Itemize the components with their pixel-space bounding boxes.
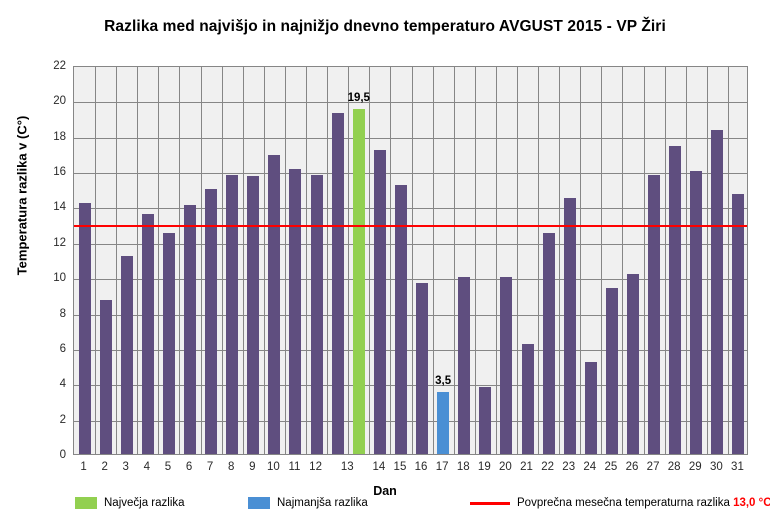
bar-value-label: 19,5 [348,92,370,104]
x-axis-tick-label: 22 [541,461,554,473]
x-axis-tick-label: 28 [668,461,681,473]
x-axis-tick-label: 31 [731,461,744,473]
x-axis-tick-label: 30 [710,461,723,473]
chart-title: Razlika med najvišjo in najnižjo dnevno … [0,18,770,36]
x-axis-ticks: 1234567891011121314151617181920212223242… [73,461,748,479]
y-axis-tick-label: 2 [6,414,66,426]
x-axis-tick-label: 20 [499,461,512,473]
y-axis-tick-label: 14 [6,201,66,213]
x-axis-tick-label: 12 [309,461,322,473]
x-axis-tick-label: 25 [604,461,617,473]
x-axis-tick-label: 4 [144,461,150,473]
y-axis-tick-label: 20 [6,95,66,107]
legend-label-average-value: 13,0 °C [733,497,770,509]
y-axis-tick-label: 18 [6,131,66,143]
bar-value-label: 3,5 [435,375,451,387]
legend-label-max: Največja razlika [104,497,185,509]
x-axis-tick-label: 24 [583,461,596,473]
chart-legend: Največja razlika Najmanjša razlika Povpr… [0,494,770,518]
y-axis-ticks: 0246810121416182022 [0,66,66,455]
x-axis-tick-label: 26 [626,461,639,473]
legend-label-average: Povprečna mesečna temperaturna razlika 1… [517,497,770,509]
x-axis-tick-label: 19 [478,461,491,473]
legend-item-max: Največja razlika [75,497,185,509]
bar-labels-layer: 19,53,5 [74,67,747,454]
y-axis-tick-label: 22 [6,60,66,72]
x-axis-tick-label: 9 [249,461,255,473]
x-axis-tick-label: 18 [457,461,470,473]
chart-container: Razlika med najvišjo in najnižjo dnevno … [0,0,770,518]
x-axis-tick-label: 21 [520,461,533,473]
legend-label-min: Najmanjša razlika [277,497,368,509]
x-axis-tick-label: 15 [394,461,407,473]
legend-item-average: Povprečna mesečna temperaturna razlika 1… [470,497,770,509]
legend-line-average-icon [470,502,510,505]
y-axis-tick-label: 0 [6,449,66,461]
x-axis-tick-label: 14 [372,461,385,473]
legend-swatch-max-icon [75,497,97,509]
x-axis-tick-label: 3 [123,461,129,473]
legend-label-average-text: Povprečna mesečna temperaturna razlika [517,497,730,509]
x-axis-tick-label: 10 [267,461,280,473]
x-axis-tick-label: 27 [647,461,660,473]
legend-item-min: Najmanjša razlika [248,497,368,509]
x-axis-tick-label: 23 [562,461,575,473]
plot-area: 19,53,5 [73,66,748,455]
x-axis-tick-label: 16 [415,461,428,473]
x-axis-tick-label: 8 [228,461,234,473]
y-axis-tick-label: 6 [6,343,66,355]
y-axis-tick-label: 12 [6,237,66,249]
x-axis-tick-label: 7 [207,461,213,473]
y-axis-tick-label: 10 [6,272,66,284]
y-axis-tick-label: 16 [6,166,66,178]
x-axis-tick-label: 5 [165,461,171,473]
x-axis-tick-label: 17 [436,461,449,473]
y-axis-tick-label: 8 [6,308,66,320]
x-axis-tick-label: 2 [101,461,107,473]
x-axis-tick-label: 6 [186,461,192,473]
x-axis-tick-label: 1 [80,461,86,473]
x-axis-tick-label: 13 [341,461,354,473]
x-axis-tick-label: 11 [289,461,301,473]
y-axis-tick-label: 4 [6,378,66,390]
x-axis-tick-label: 29 [689,461,702,473]
legend-swatch-min-icon [248,497,270,509]
